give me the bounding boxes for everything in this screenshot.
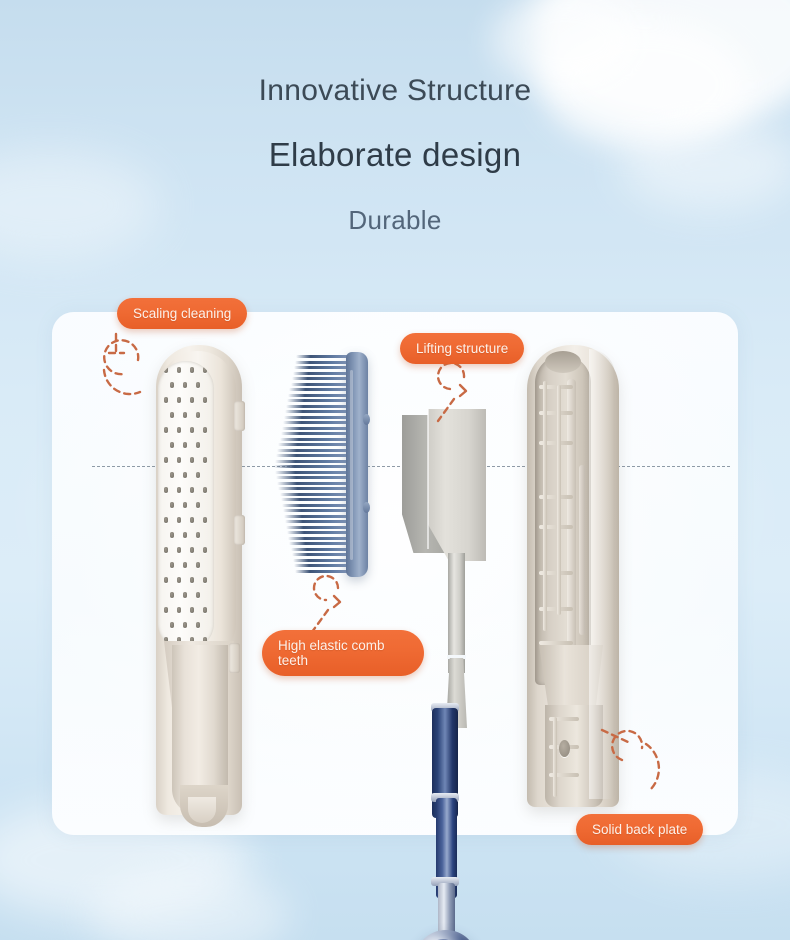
product-infographic: Innovative Structure Elaborate design Du… xyxy=(0,0,790,940)
comb-tooth xyxy=(275,471,348,474)
comb-tooth xyxy=(280,438,349,441)
perforation-hole xyxy=(190,577,194,583)
perforation-hole xyxy=(196,442,200,448)
comb-spine xyxy=(346,352,368,577)
comb-tooth xyxy=(292,553,348,556)
callout-high-elastic-comb-teeth[interactable]: High elastic comb teeth xyxy=(262,630,424,676)
perforation-hole xyxy=(177,427,181,433)
comb-tooth xyxy=(276,476,348,479)
back-plate-rail xyxy=(579,465,585,635)
comb-tooth xyxy=(294,366,348,369)
comb-tooth xyxy=(291,548,349,551)
comb-tooth xyxy=(282,427,348,430)
comb-tooth xyxy=(296,355,348,358)
comb-tooth xyxy=(287,531,348,534)
hole-grid xyxy=(158,361,214,651)
comb-tooth xyxy=(288,394,348,397)
dashed-arrow-icon xyxy=(430,363,490,433)
comb-tooth xyxy=(287,399,348,402)
comb-tooth xyxy=(278,487,348,490)
back-plate-screw-hole xyxy=(559,740,570,757)
perforation-hole xyxy=(183,592,187,598)
perforation-hole xyxy=(183,622,187,628)
perforation-hole xyxy=(164,517,168,523)
comb-tooth xyxy=(295,570,348,573)
perforation-hole xyxy=(177,547,181,553)
perforation-hole xyxy=(196,532,200,538)
comb-tooth xyxy=(277,482,348,485)
perforated-plate xyxy=(158,361,214,651)
perforation-hole xyxy=(164,397,168,403)
comb-tooth xyxy=(283,421,348,424)
page-tagline: Durable xyxy=(0,171,790,233)
perforation-hole xyxy=(190,517,194,523)
internal-rib xyxy=(539,641,573,645)
perforation-hole xyxy=(196,412,200,418)
perforation-hole xyxy=(177,517,181,523)
comb-mount-nub xyxy=(363,502,370,513)
perforation-hole xyxy=(196,502,200,508)
perforation-hole xyxy=(170,472,174,478)
perforation-hole xyxy=(190,397,194,403)
comb-tooth xyxy=(276,454,348,457)
comb-tooth xyxy=(284,416,348,419)
perforation-hole xyxy=(170,592,174,598)
perforation-hole xyxy=(164,457,168,463)
perforation-hole xyxy=(183,382,187,388)
part-comb-teeth xyxy=(268,352,368,577)
lifting-block-edge xyxy=(427,409,429,549)
perforation-hole xyxy=(183,502,187,508)
comb-tooth xyxy=(286,405,348,408)
perforation-hole xyxy=(177,457,181,463)
perforation-hole xyxy=(196,622,200,628)
comb-tooth xyxy=(295,361,348,364)
internal-rib xyxy=(553,717,557,797)
comb-tooth xyxy=(293,559,348,562)
internal-rib xyxy=(543,381,547,631)
perforation-hole xyxy=(164,427,168,433)
perforation-hole xyxy=(203,427,207,433)
perforation-hole xyxy=(190,607,194,613)
perforation-hole xyxy=(203,397,207,403)
dashed-arrow-icon xyxy=(598,718,674,802)
comb-tooth xyxy=(286,526,348,529)
page-subtitle: Elaborate design xyxy=(0,106,790,171)
perforation-hole xyxy=(203,517,207,523)
perforation-hole xyxy=(170,382,174,388)
perforation-hole xyxy=(177,397,181,403)
perforation-hole xyxy=(177,487,181,493)
perforation-hole xyxy=(164,487,168,493)
comb-tooth xyxy=(277,449,348,452)
comb-tooth xyxy=(289,542,348,545)
heading-block: Innovative Structure Elaborate design Du… xyxy=(0,0,790,233)
perforation-hole xyxy=(196,562,200,568)
perforation-hole xyxy=(190,427,194,433)
perforation-hole xyxy=(203,487,207,493)
perforation-hole xyxy=(183,412,187,418)
dashed-arrow-icon xyxy=(94,330,156,404)
perforation-hole xyxy=(203,607,207,613)
perforation-hole xyxy=(196,382,200,388)
comb-tooth xyxy=(280,493,349,496)
comb-teeth-row xyxy=(268,352,348,577)
comb-tooth xyxy=(283,509,348,512)
perforation-hole xyxy=(203,577,207,583)
perforation-hole xyxy=(190,367,194,373)
comb-tooth xyxy=(291,383,349,386)
comb-tooth xyxy=(285,520,348,523)
comb-tooth xyxy=(284,515,348,518)
perforation-hole xyxy=(203,547,207,553)
perforation-hole xyxy=(177,607,181,613)
perforation-hole xyxy=(196,592,200,598)
perforation-hole xyxy=(183,562,187,568)
perforation-hole xyxy=(170,502,174,508)
comb-tooth xyxy=(294,564,348,567)
perforation-hole xyxy=(164,547,168,553)
comb-tooth xyxy=(274,465,348,468)
comb-tooth xyxy=(288,537,348,540)
comb-tooth xyxy=(281,498,348,501)
comb-tooth xyxy=(292,377,348,380)
comb-mount-nub xyxy=(363,414,370,425)
perforation-hole xyxy=(170,622,174,628)
perforation-hole xyxy=(183,442,187,448)
perforation-hole xyxy=(196,472,200,478)
perforation-hole xyxy=(164,577,168,583)
callout-scaling-cleaning[interactable]: Scaling cleaning xyxy=(117,298,247,329)
callout-solid-back-plate[interactable]: Solid back plate xyxy=(576,814,703,845)
perforation-hole xyxy=(164,367,168,373)
perforation-hole xyxy=(170,562,174,568)
comb-tooth xyxy=(293,372,348,375)
clip-tab xyxy=(234,401,245,431)
perforation-hole xyxy=(170,412,174,418)
comb-tooth xyxy=(281,432,348,435)
perforation-hole xyxy=(190,487,194,493)
comb-tooth xyxy=(282,504,348,507)
perforation-hole xyxy=(203,457,207,463)
clip-tab xyxy=(234,515,245,545)
comb-tooth xyxy=(278,443,348,446)
comb-tooth xyxy=(285,410,348,413)
perforation-hole xyxy=(203,367,207,373)
perforation-hole xyxy=(183,532,187,538)
page-title: Innovative Structure xyxy=(0,0,790,106)
perforation-hole xyxy=(177,367,181,373)
comb-tooth xyxy=(289,388,348,391)
perforation-hole xyxy=(190,547,194,553)
perforation-hole xyxy=(177,577,181,583)
back-plate-lip xyxy=(545,351,581,373)
part-front-shell xyxy=(150,345,255,815)
perforation-hole xyxy=(170,442,174,448)
callout-lifting-structure[interactable]: Lifting structure xyxy=(400,333,524,364)
internal-rib xyxy=(557,385,561,615)
clip-tab xyxy=(229,643,240,673)
perforation-hole xyxy=(164,607,168,613)
perforation-hole xyxy=(183,472,187,478)
perforation-hole xyxy=(190,457,194,463)
perforation-hole xyxy=(170,532,174,538)
comb-tooth xyxy=(275,460,348,463)
